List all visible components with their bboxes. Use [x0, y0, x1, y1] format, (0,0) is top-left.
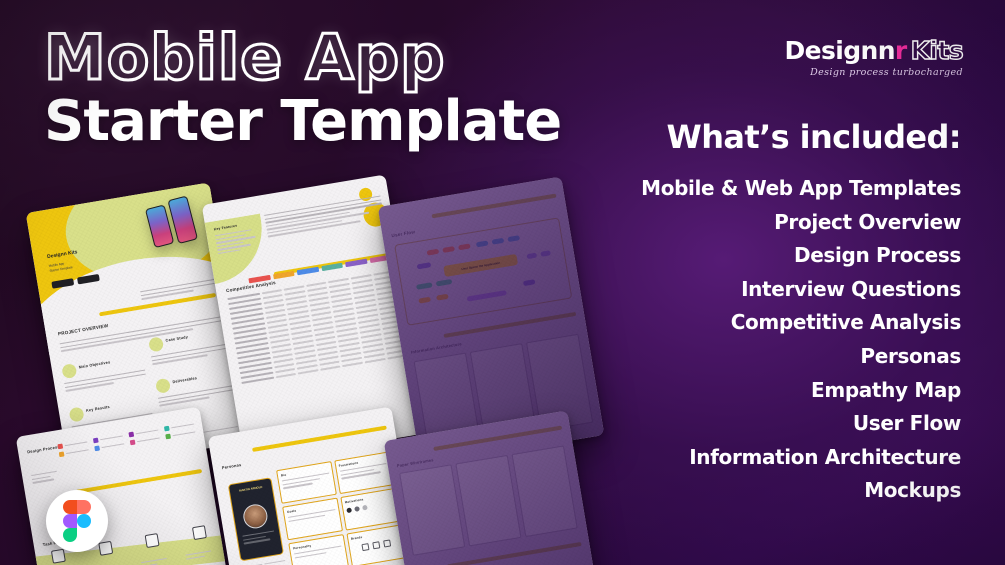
persona-name: MARTIN ARNOLD	[230, 483, 272, 494]
legend-item	[165, 429, 195, 439]
step-icon	[51, 549, 66, 564]
figma-logo-icon	[63, 500, 91, 542]
included-item-3: Interview Questions	[541, 273, 961, 307]
card-intro-lines	[264, 195, 385, 239]
brand-name-part2: r	[895, 36, 907, 65]
card-accent-bar	[252, 426, 387, 452]
persona-box: Brands	[346, 524, 406, 565]
legend-swatch	[164, 426, 170, 432]
included-item-5: Personas	[541, 340, 961, 374]
step-icon	[98, 541, 113, 556]
headline-line-2: Starter Template	[44, 93, 561, 152]
section-dot-icon	[155, 378, 171, 394]
included-item-1: Project Overview	[541, 206, 961, 240]
brand-wordmark: DesignnrKits	[784, 36, 963, 65]
whats-included-panel: What’s included: Mobile & Web App Templa…	[541, 118, 961, 508]
section-dot-icon	[148, 336, 164, 352]
section-dot-icon	[69, 406, 85, 422]
included-item-7: User Flow	[541, 407, 961, 441]
card-section-block: Main Objectives	[61, 352, 147, 394]
legend-item	[94, 441, 124, 451]
card-heading: Design Process	[27, 444, 60, 454]
persona-profile-card: MARTIN ARNOLD	[228, 477, 284, 561]
persona-box: Frustrations	[334, 451, 394, 494]
legend-swatch	[57, 444, 63, 450]
step-icon	[192, 525, 207, 540]
included-item-8: Information Architecture	[541, 441, 961, 475]
process-legend	[57, 422, 195, 458]
headline-line-1: Mobile App	[44, 28, 561, 89]
included-item-0: Mobile & Web App Templates	[541, 172, 961, 206]
brand-name-part1: Designn	[784, 36, 894, 65]
persona-attribute-list	[242, 560, 289, 565]
poster-headline: Mobile App Starter Template	[44, 28, 561, 152]
card-accent-bar	[75, 469, 202, 494]
included-item-2: Design Process	[541, 239, 961, 273]
legend-item	[59, 447, 89, 457]
legend-swatch	[165, 434, 171, 440]
legend-swatch	[128, 432, 134, 438]
persona-box: Goals	[282, 498, 342, 541]
section-label: Deliverables	[172, 376, 197, 384]
persona-box: Motivations	[340, 488, 400, 531]
step-icon	[145, 533, 160, 548]
legend-item	[130, 435, 160, 445]
whats-included-title: What’s included:	[541, 118, 961, 156]
included-item-6: Empathy Map	[541, 374, 961, 408]
section-dot-icon	[61, 363, 77, 379]
figma-badge[interactable]	[46, 490, 108, 552]
card-side-lines	[31, 471, 58, 486]
included-item-4: Competitive Analysis	[541, 306, 961, 340]
poster-canvas: Designn Kits Mobile AppStarter Template …	[0, 0, 1005, 565]
section-label: Key Results	[86, 405, 110, 413]
card-heading: Personas	[221, 462, 241, 470]
legend-swatch	[94, 445, 100, 451]
brand-name-part3: Kits	[911, 36, 963, 65]
section-label: Case Study	[165, 335, 188, 343]
brand-logo[interactable]: DesignnrKits Design process turbocharged	[784, 36, 963, 78]
persona-box: Personality	[288, 534, 348, 565]
brand-tagline: Design process turbocharged	[784, 67, 963, 78]
section-label: Main Objectives	[79, 360, 111, 369]
persona-box: Bio	[276, 461, 336, 504]
persona-detail-grid: Bio Frustrations Goals Motivations Perso…	[276, 451, 406, 565]
legend-swatch	[93, 438, 99, 444]
legend-swatch	[130, 440, 136, 446]
card-section-block: Deliverables	[155, 367, 237, 408]
included-item-9: Mockups	[541, 474, 961, 508]
legend-swatch	[59, 451, 65, 457]
